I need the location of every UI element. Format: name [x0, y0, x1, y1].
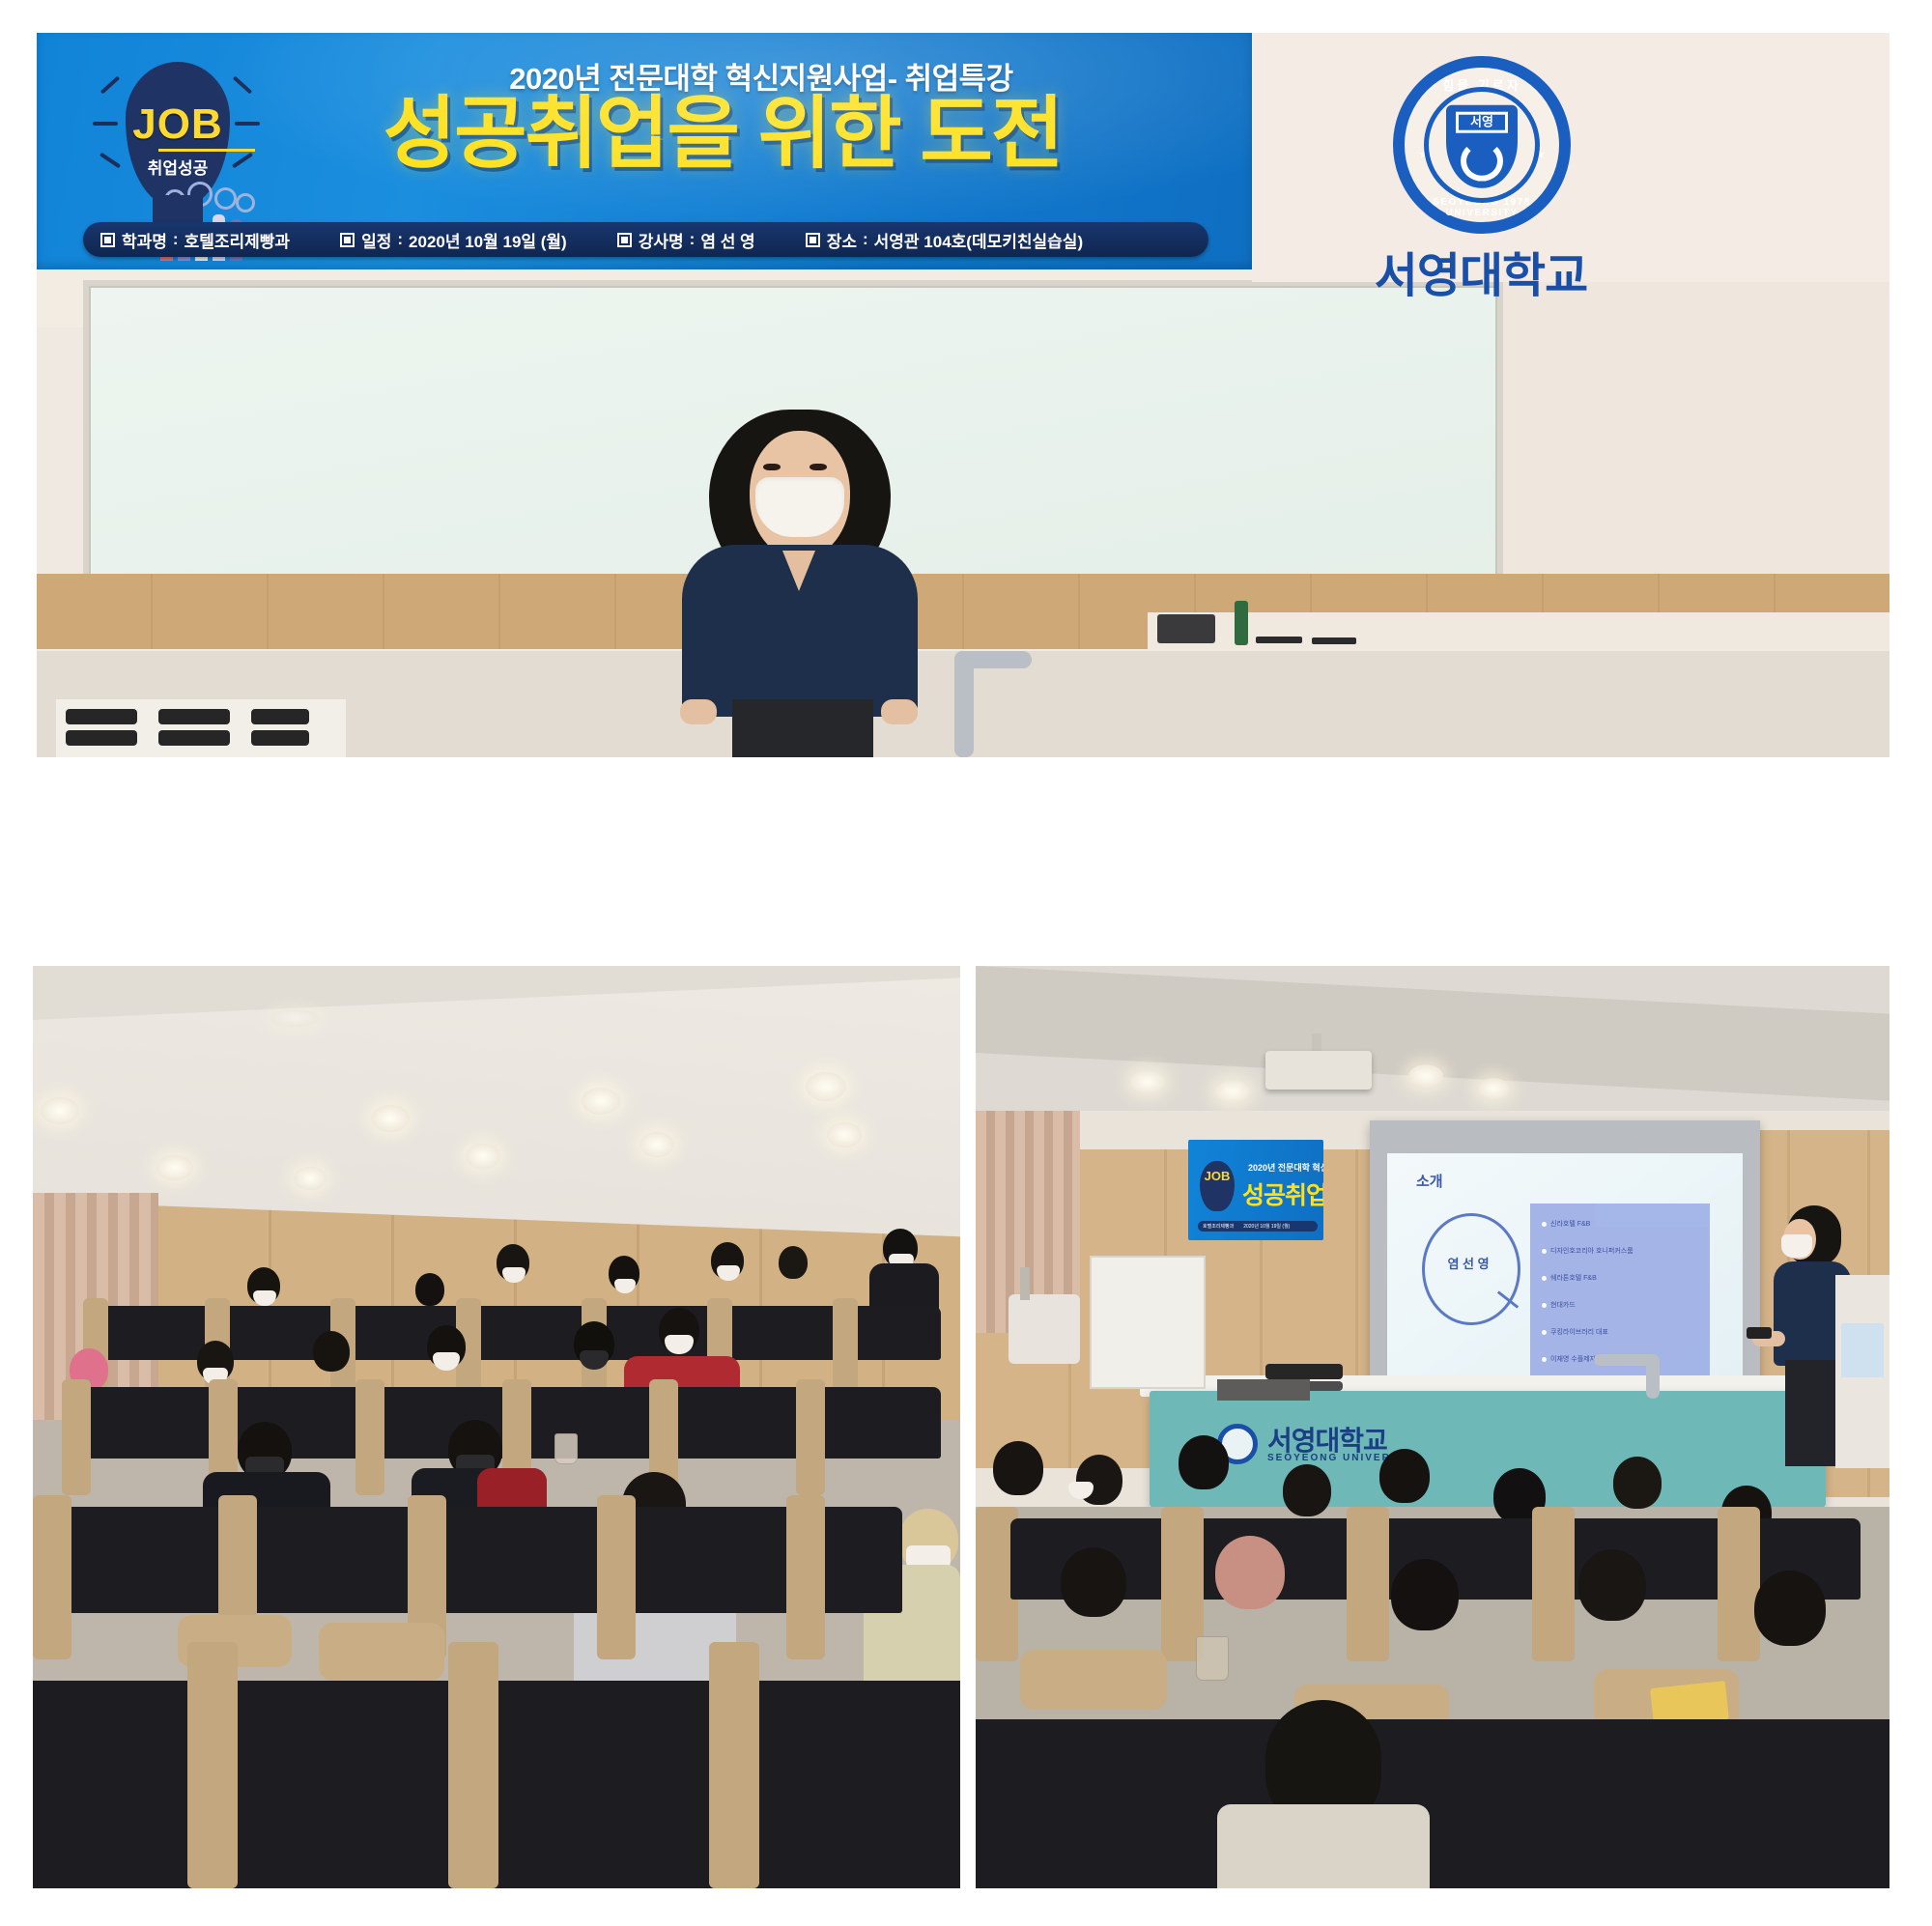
slide-speaker-name: 염 선 영: [1422, 1254, 1515, 1272]
photo-instructor-front: 힘을 기르자 ★ ★ ★ ★ SEOYEONG 1978 UNIVERSITY …: [37, 33, 1889, 757]
collage-gutter-right: [1889, 0, 1932, 1926]
audience-head: [779, 1246, 808, 1279]
presenter-remote: [1747, 1327, 1772, 1339]
info-label: 학과명: [122, 228, 167, 252]
banner-info-bar: 호텔조리제빵과 2020년 10월 19일 (월): [1198, 1221, 1318, 1232]
gear-icons: [160, 180, 255, 212]
drink-cup: [554, 1433, 578, 1464]
slide-bullet: 이재영 수플제자: [1542, 1354, 1596, 1364]
slide-bullet: 현대카드: [1542, 1300, 1576, 1310]
info-label: 장소: [827, 228, 857, 252]
projection-screen: 소개 염 선 영 신라호텔 F&B 디자인호코리아 호니퍼커스룸 쉐라톤호텔 F…: [1370, 1120, 1760, 1410]
audience-head: [313, 1331, 350, 1372]
burner-grate: [158, 730, 230, 746]
burner-grate: [66, 730, 137, 746]
job-logo-text: JOB: [1200, 1169, 1235, 1183]
job-logo-text: JOB: [126, 100, 230, 149]
ceiling-projector: [1265, 1051, 1372, 1090]
microphone-stand: [1020, 1267, 1030, 1300]
presentation-slide: 소개 염 선 영 신라호텔 F&B 디자인호코리아 호니퍼커스룸 쉐라톤호텔 F…: [1387, 1153, 1743, 1385]
crest-shield: 서영: [1446, 105, 1518, 188]
trousers: [732, 699, 873, 757]
info-value: 호텔조리제빵과: [185, 228, 290, 252]
collage-gutter-top: [0, 0, 1932, 33]
burner-grate: [66, 709, 137, 724]
audience-head: [1578, 1549, 1646, 1621]
photo-lecture-in-progress: JOB 2020년 전문대학 혁신지원사업- 취업특강 성공취업을 위한 도전 …: [976, 966, 1889, 1888]
info-label: 일정: [361, 228, 391, 252]
ceiling-light: [156, 1155, 193, 1180]
banner-info-bar: 학과명 : 호텔조리제빵과 일정 : 2020년 10월 19일 (월) 강사명…: [83, 222, 1208, 257]
photo-collage: 힘을 기르자 ★ ★ ★ ★ SEOYEONG 1978 UNIVERSITY …: [0, 0, 1932, 1926]
ceiling-light: [1215, 1080, 1250, 1103]
seat-armrest: [796, 1379, 825, 1495]
bullet-square-icon: [617, 233, 632, 247]
seat-armrest: [1347, 1507, 1389, 1661]
seat-armrest: [355, 1379, 384, 1495]
eye: [763, 464, 781, 470]
hand: [881, 699, 918, 724]
audience-head: [1379, 1449, 1430, 1503]
poster: [1841, 1323, 1884, 1377]
spray-bottle: [1235, 601, 1248, 645]
collage-gutter-bottom: [0, 1888, 1932, 1926]
av-equipment: [1009, 1294, 1080, 1364]
ceiling-light: [41, 1097, 79, 1124]
audience-head: [1391, 1559, 1459, 1630]
bullet-square-icon: [340, 233, 355, 247]
eye: [810, 464, 827, 470]
crest-crescent-icon: [1461, 141, 1503, 182]
bulb-glass: JOB 취업성공: [126, 62, 230, 207]
collage-gutter-left: [0, 0, 33, 1926]
faucet-column: [1646, 1354, 1660, 1399]
ceiling-light: [582, 1088, 620, 1115]
slide-bullet: 쉐라톤호텔 F&B: [1542, 1273, 1597, 1283]
audience-head: [415, 1273, 444, 1306]
griddle-plate: [1217, 1379, 1310, 1401]
info-value: 염 선 영: [700, 228, 754, 252]
ceiling-light: [806, 1072, 846, 1101]
banner-main-title: 성공취업을 위한 도전: [1242, 1176, 1323, 1211]
instructor-figure: [674, 410, 925, 757]
audience-torso-foreground: [1217, 1804, 1430, 1888]
ceiling-light: [1408, 1064, 1443, 1088]
remote-control: [1256, 637, 1302, 643]
audience-head: [1613, 1457, 1662, 1509]
university-name: 서영대학교: [1321, 238, 1640, 306]
equipment-box: [1157, 614, 1215, 643]
seat-writing-tablet: [319, 1623, 444, 1681]
ceiling-light: [466, 1144, 500, 1169]
audience-head: [1061, 1547, 1126, 1617]
stovetop: [56, 699, 346, 757]
seat-row-foreground: [976, 1719, 1889, 1888]
seat-row-front: [33, 1507, 902, 1613]
burner-grate: [1265, 1364, 1343, 1379]
seat-armrest: [33, 1495, 71, 1659]
seat-armrest: [1532, 1507, 1575, 1661]
ceiling-light: [639, 1132, 674, 1157]
audience-head: [1283, 1464, 1331, 1516]
info-value: 호텔조리제빵과: [1203, 1223, 1234, 1230]
face-mask: [1781, 1234, 1812, 1258]
banner-main-title: 성공취업을 위한 도전: [240, 93, 1206, 177]
burner-grate: [158, 709, 230, 724]
info-label: 강사명: [639, 228, 684, 252]
info-item-venue: 장소 : 서영관 104호(데모키친실습실): [806, 228, 1083, 252]
job-underline: [158, 149, 255, 152]
info-item-lecturer: 강사명 : 염 선 영: [617, 228, 755, 252]
audience-head: [993, 1441, 1043, 1495]
drink-cup: [1196, 1636, 1229, 1681]
seat-armrest: [1718, 1507, 1760, 1661]
info-item-date: 일정 : 2020년 10월 19일 (월): [340, 228, 567, 252]
ceiling-light: [1130, 1070, 1165, 1093]
ceiling-light: [371, 1105, 410, 1132]
lightbulb-icon: JOB 취업성공: [97, 50, 256, 243]
face-mask: [755, 477, 844, 537]
people-illustration: [155, 209, 263, 261]
banner-kicker-text: 2020년 전문대학 혁신지원사업- 취업특강: [1248, 1161, 1323, 1174]
seat-armrest: [597, 1495, 636, 1659]
banner-kicker-text: 2020년 전문대학 혁신지원사업- 취업특강: [327, 54, 1196, 98]
slide-bullet-box: 신라호텔 F&B 디자인호코리아 호니퍼커스룸 쉐라톤호텔 F&B 현대카드 쿠…: [1530, 1204, 1710, 1379]
slide-heading: 소개: [1416, 1171, 1443, 1191]
seat-armrest: [448, 1642, 498, 1888]
photo-audience: [33, 966, 960, 1888]
bulb-base: [153, 195, 203, 241]
slide-bullet: 디자인호코리아 호니퍼커스룸: [1542, 1246, 1634, 1256]
audience-head-dyed: [1215, 1536, 1285, 1609]
seat-armrest: [62, 1379, 91, 1495]
ceiling-light: [294, 1167, 327, 1190]
remote-control: [1312, 637, 1356, 644]
faucet-column: [954, 651, 974, 757]
info-value: 서영관 104호(데모키친실습실): [874, 228, 1083, 252]
info-item-department: 학과명 : 호텔조리제빵과: [100, 228, 290, 252]
ceiling-light: [827, 1122, 862, 1147]
info-value: 2020년 10월 19일 (월): [409, 228, 567, 252]
wall-event-banner: JOB 2020년 전문대학 혁신지원사업- 취업특강 성공취업을 위한 도전 …: [1188, 1140, 1323, 1240]
crest-inner-ring: 서영: [1424, 87, 1540, 203]
hand: [680, 699, 717, 724]
seat-armrest: [833, 1298, 858, 1391]
burner-grate: [251, 730, 309, 746]
seat-writing-tablet: [1020, 1650, 1167, 1710]
collage-gutter-middle: [0, 757, 1932, 966]
burner-grate: [251, 709, 309, 724]
bullet-square-icon: [100, 233, 115, 247]
ceiling-light: [1478, 1078, 1509, 1099]
audience-head: [1754, 1571, 1826, 1646]
seat-armrest: [709, 1642, 759, 1888]
info-value: 2020년 10월 19일 (월): [1243, 1223, 1290, 1230]
slide-bullet: 신라호텔 F&B: [1542, 1219, 1590, 1229]
audience-head: [1179, 1435, 1229, 1489]
seat-armrest: [187, 1642, 238, 1888]
crest-shield-text: 서영: [1456, 112, 1508, 133]
seat-armrest: [786, 1495, 825, 1659]
ceiling-speaker-vent: [270, 1009, 319, 1027]
event-banner: JOB 취업성공: [37, 33, 1252, 269]
job-logo-subtitle: 취업성공: [126, 155, 230, 179]
collage-gutter-vertical: [960, 966, 976, 1893]
flipchart-board: [1090, 1256, 1206, 1389]
bullet-square-icon: [806, 233, 820, 247]
slide-bullet: 쿠킹라이브러리 대표: [1542, 1327, 1608, 1337]
university-crest-icon: 힘을 기르자 ★ ★ ★ ★ SEOYEONG 1978 UNIVERSITY …: [1393, 56, 1571, 234]
